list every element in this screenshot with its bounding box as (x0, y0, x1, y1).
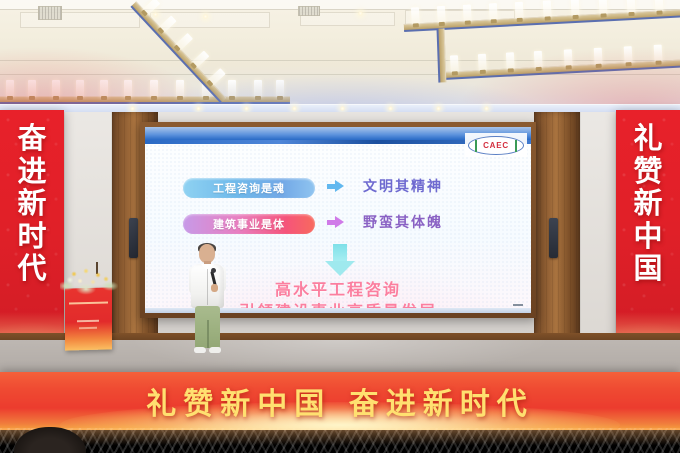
banner-left-char: 时 (17, 222, 46, 252)
podium-text-line (79, 327, 97, 329)
ceiling (0, 0, 680, 118)
floral-arrangement (60, 262, 118, 296)
slide-pill-1: 工程咨询是魂 (183, 178, 315, 198)
presenter-leg-split (207, 320, 209, 348)
banner-left-char: 新 (17, 189, 46, 219)
slide-result-2: 野蛮其体魄 (363, 212, 443, 232)
presenter (188, 244, 228, 356)
presenter-shoe-left (194, 347, 206, 353)
podium-text-line (69, 301, 108, 304)
wall-speaker-right (549, 218, 558, 258)
banner-right-char: 中 (633, 222, 662, 252)
caec-logo: CAEC (465, 133, 527, 157)
arrow-right-icon-1 (335, 180, 344, 192)
banner-right-char: 赞 (633, 157, 662, 187)
arrow-right-icon-2 (335, 216, 344, 228)
conference-hall-scene: 工程咨询是魂 文明其精神 建筑事业是体 野蛮其体魄 高水平工程咨询 引领建设事业… (0, 0, 680, 453)
presenter-shirt-placket (207, 269, 208, 305)
slide-result-1: 文明其精神 (363, 176, 443, 196)
carpet-light-glow (0, 428, 680, 453)
arrow-right-icon-tail-1 (327, 184, 335, 189)
presenter-hand (211, 284, 218, 292)
banner-front-horizontal: 礼赞新中国 奋进新时代 (0, 372, 680, 430)
caec-logo-text: CAEC (483, 141, 509, 150)
slide-footer-dash (513, 304, 523, 306)
banner-left-char: 进 (17, 157, 46, 187)
banner-right-char: 新 (633, 189, 662, 219)
banner-left-char: 奋 (17, 124, 46, 154)
wall-speaker-left (129, 218, 138, 258)
banner-right-char: 礼 (633, 124, 662, 154)
wall-panel-right (580, 112, 616, 340)
arrow-right-icon-tail-2 (327, 220, 335, 225)
banner-right-char: 国 (633, 254, 662, 284)
banner-front-text: 礼赞新中国 奋进新时代 (146, 379, 533, 423)
presenter-shoe-right (209, 347, 221, 353)
floral-podium (65, 287, 112, 350)
podium-text-line (77, 320, 99, 322)
microphone-head-icon (211, 268, 216, 273)
arrow-down-icon (325, 244, 355, 276)
banner-right-text: 礼 赞 新 中 国 (616, 124, 680, 284)
ceiling-light-wash (0, 0, 680, 118)
slide-pill-2: 建筑事业是体 (183, 214, 315, 234)
banner-left-char: 代 (17, 254, 46, 284)
banner-left-text: 奋 进 新 时 代 (0, 124, 64, 284)
